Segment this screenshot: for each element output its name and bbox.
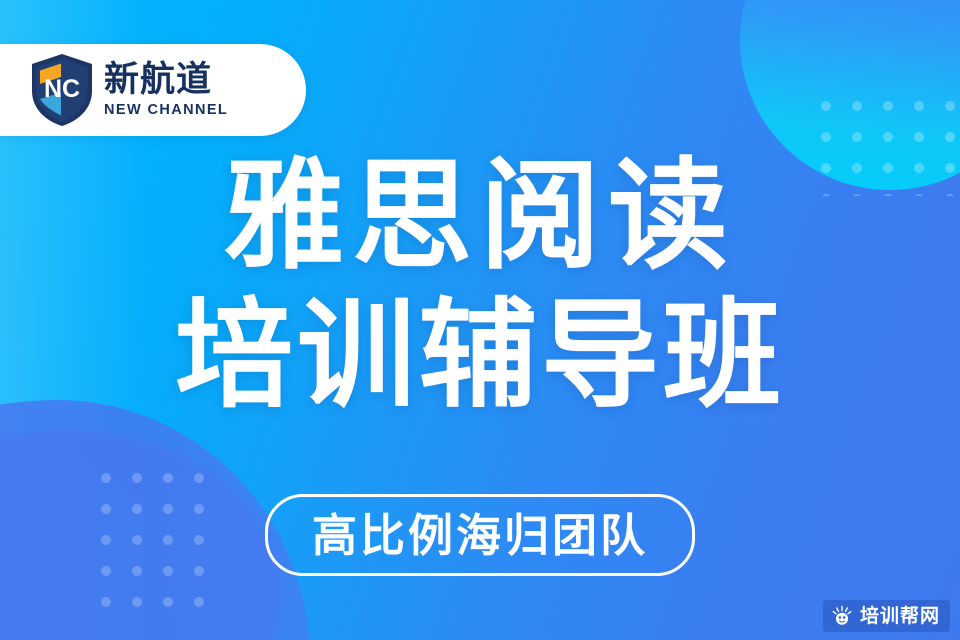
brand-logo-inner: NC 新航道 NEW CHANNEL [30,53,228,127]
svg-text:NC: NC [44,75,80,103]
brand-name-chinese: 新航道 [104,62,228,99]
subtitle-pill: 高比例海归团队 [265,494,695,576]
promo-banner: NC 新航道 NEW CHANNEL 雅思阅读 培训辅导班 高比例海归团队 [0,0,960,640]
headline-line-2: 培训辅导班 [0,288,960,423]
sun-face-icon [831,605,853,627]
headline-line-1: 雅思阅读 [0,150,960,284]
blue-blob-secondary [0,430,280,640]
watermark: 培训帮网 [823,600,950,632]
headline-block: 雅思阅读 培训辅导班 [0,150,960,423]
brand-name-english: NEW CHANNEL [104,103,228,118]
watermark-text: 培训帮网 [860,607,940,626]
dot-grid-bottom-left [96,468,221,628]
subtitle-text: 高比例海归团队 [312,513,648,558]
brand-logo: NC 新航道 NEW CHANNEL [0,44,306,136]
blue-blob [0,400,310,640]
shield-nc-icon: NC [30,53,94,127]
brand-wordmark: 新航道 NEW CHANNEL [104,62,228,118]
